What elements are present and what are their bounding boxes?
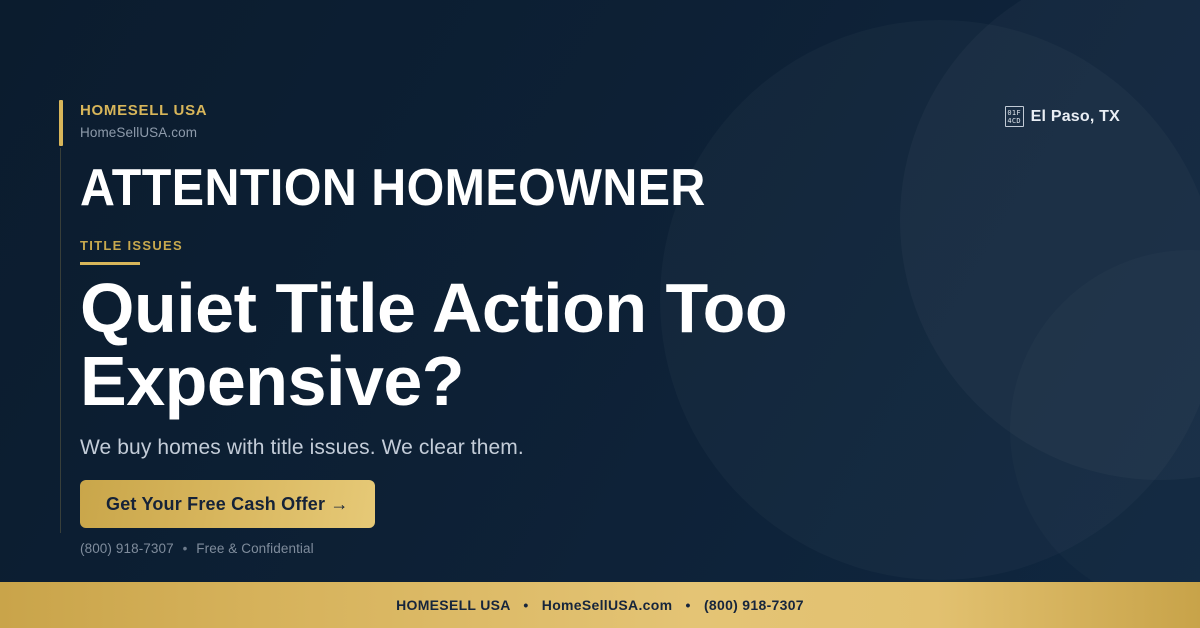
eyebrow-label: TITLE ISSUES (80, 238, 183, 253)
left-accent-line (60, 148, 61, 533)
eyebrow: TITLE ISSUES (80, 238, 183, 265)
creative-content: HOMESELL USA HomeSellUSA.com 01F 4CD El … (80, 0, 1120, 628)
left-accent-bar (59, 100, 63, 146)
map-pin-icon-codepoint-bottom: 4CD (1007, 117, 1021, 125)
brand-block: HOMESELL USA HomeSellUSA.com (80, 103, 207, 140)
location-badge: 01F 4CD El Paso, TX (1005, 103, 1120, 127)
footer-bar: HOMESELL USA • HomeSellUSA.com • (800) 9… (0, 582, 1200, 628)
footer-separator-2: • (677, 597, 700, 613)
microcopy-separator: • (178, 541, 193, 556)
footer-website[interactable]: HomeSellUSA.com (542, 597, 673, 613)
brand-website: HomeSellUSA.com (80, 126, 207, 141)
ad-creative: HOMESELL USA HomeSellUSA.com 01F 4CD El … (0, 0, 1200, 628)
brand-name: HOMESELL USA (80, 103, 207, 120)
page-title: Quiet Title Action Too Expensive? (80, 272, 920, 418)
footer-phone[interactable]: (800) 918-7307 (704, 597, 804, 613)
footer-brand: HOMESELL USA (396, 597, 510, 613)
microcopy-note: Free & Confidential (196, 541, 313, 556)
location-label: El Paso, TX (1031, 108, 1120, 126)
footer-separator-1: • (514, 597, 537, 613)
microcopy-phone: (800) 918-7307 (80, 541, 174, 556)
footer-text: HOMESELL USA • HomeSellUSA.com • (800) 9… (396, 597, 804, 613)
map-pin-icon-codepoint-top: 01F (1007, 109, 1021, 117)
microcopy: (800) 918-7307 • Free & Confidential (80, 541, 314, 556)
map-pin-icon: 01F 4CD (1005, 106, 1024, 127)
subheadline: We buy homes with title issues. We clear… (80, 436, 524, 460)
eyebrow-underline (80, 262, 140, 265)
attention-heading: ATTENTION HOMEOWNER (80, 160, 706, 216)
header-row: HOMESELL USA HomeSellUSA.com 01F 4CD El … (80, 103, 1120, 140)
cta-button[interactable]: Get Your Free Cash Offer → (80, 480, 375, 528)
